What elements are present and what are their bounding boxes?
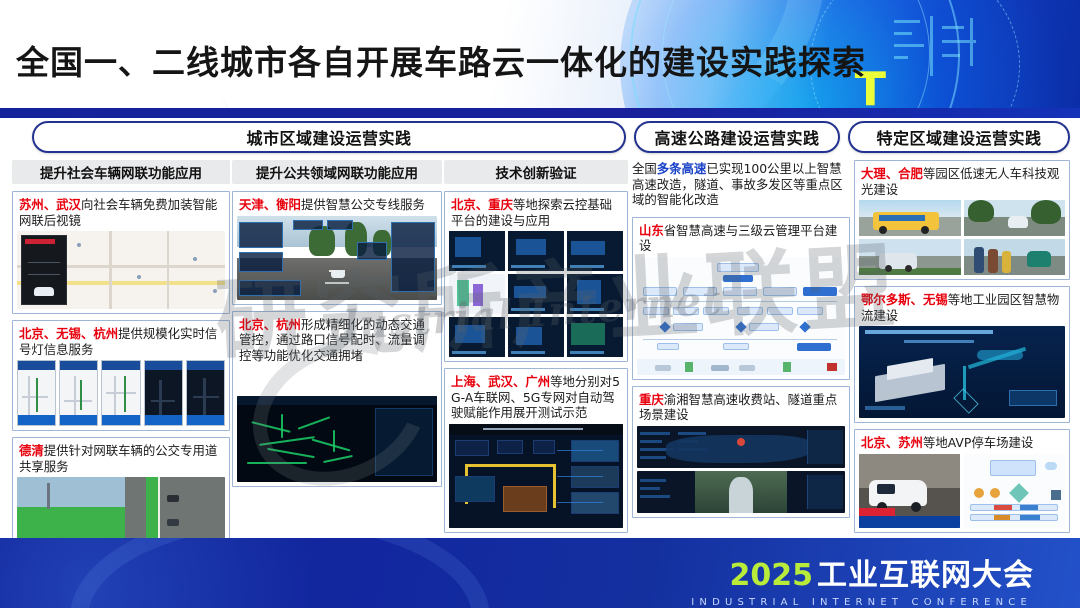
- page-title: 全国一、二线城市各自开展车路云一体化的建设实践探索: [16, 36, 866, 84]
- card-chongqing-highway[interactable]: 重庆渝湘智慧高速收费站、隧道重点场景建设: [632, 386, 850, 518]
- phone-screenshot: [101, 360, 140, 426]
- screenshot-logistics-render: [859, 326, 1065, 418]
- phone-screenshot: [144, 360, 183, 426]
- phone-screenshot: [17, 360, 56, 426]
- header-divider-rule: [0, 108, 1080, 118]
- footer-arc-decoration: [70, 538, 490, 608]
- card-caption-4-2: 山东省智慧高速与三级云管理平台建设: [637, 222, 845, 257]
- card-caption-4-3: 重庆渝湘智慧高速收费站、隧道重点场景建设: [637, 391, 845, 426]
- card-beijing-wuxi-hangzhou[interactable]: 北京、无锡、杭州提供规模化实时信号灯信息服务: [12, 320, 230, 431]
- phone-screenshot: [186, 360, 225, 426]
- screenshot-grid-tour-vehicles: [859, 200, 1065, 275]
- photo-visitors: [964, 239, 1066, 275]
- card-tianjin-hengyang[interactable]: 天津、衡阳提供智慧公交专线服务: [232, 191, 442, 305]
- photo-sweeper-bus: [859, 200, 961, 236]
- card-shandong[interactable]: 山东省智慧高速与三级云管理平台建设: [632, 217, 850, 380]
- conference-name-cn: 工业互联网大会: [817, 550, 1034, 594]
- screenshot-traffic-network: [237, 396, 437, 482]
- conference-year: 2025: [730, 558, 814, 593]
- mini-screenshot: [567, 317, 623, 357]
- mini-screenshot: [567, 231, 623, 271]
- card-caption-3-2: 上海、武汉、广州等地分别对5G-A车联网、5G专网对自动驾驶赋能作用展开测试示范: [449, 373, 623, 424]
- slide-footer: 2025 工业互联网大会 INDUSTRIAL INTERNET CONFERE…: [0, 538, 1080, 608]
- screenshot-smart-bus-road: [237, 216, 437, 300]
- slide-root: T 全国一、二线城市各自开展车路云一体化的建设实践探索 城市区域建设运营实践 高…: [0, 0, 1080, 608]
- section-pill-highway[interactable]: 高速公路建设运营实践: [634, 121, 840, 153]
- screenshot-phone-row: [17, 360, 225, 426]
- screenshot-tunnel-scene: [637, 471, 845, 513]
- card-shanghai-wuhan-guangzhou[interactable]: 上海、武汉、广州等地分别对5G-A车联网、5G专网对自动驾驶赋能作用展开测试示范: [444, 368, 628, 533]
- section-pill-city[interactable]: 城市区域建设运营实践: [32, 121, 626, 153]
- slide-header: T 全国一、二线城市各自开展车路云一体化的建设实践探索: [0, 0, 1080, 110]
- card-caption-1-3: 德清提供针对网联车辆的公交专用道共享服务: [17, 442, 225, 477]
- inset-night-camera: [21, 235, 67, 305]
- card-caption-4-1: 全国多条高速已实现100公里以上智慧高速改造，隧道、事故多发区等重点区域的智能化…: [632, 160, 850, 211]
- column-social-vehicle: 提升社会车辆网联功能应用 苏州、武汉向社会车辆免费加装智能网联后视镜: [12, 160, 230, 566]
- column-special-zone: 大理、合肥等园区低速无人车科技观光建设: [854, 160, 1070, 539]
- column-tech-innovation: 技术创新验证 北京、重庆等地探索云控基础平台的建设与应用 上海、武汉、广州等地分…: [444, 160, 628, 539]
- conference-logo: 2025 工业互联网大会 INDUSTRIAL INTERNET CONFERE…: [691, 550, 1034, 608]
- conference-name-en: INDUSTRIAL INTERNET CONFERENCE: [691, 597, 1032, 608]
- card-dali-hefei[interactable]: 大理、合肥等园区低速无人车科技观光建设: [854, 160, 1070, 280]
- card-caption-5-3: 北京、苏州等地AVP停车场建设: [859, 434, 1065, 454]
- card-beijing-hangzhou[interactable]: 北京、杭州形成精细化的动态交通管控，通过路口信号配时、流量调控等功能优化交通拥堵: [232, 311, 442, 488]
- card-caption-1-1: 苏州、武汉向社会车辆免费加装智能网联后视镜: [17, 196, 225, 231]
- screenshot-rearview-map: [17, 231, 225, 309]
- card-caption-2-2: 北京、杭州形成精细化的动态交通管控，通过路口信号配时、流量调控等功能优化交通拥堵: [237, 316, 437, 367]
- phone-screenshot: [59, 360, 98, 426]
- column-header-1: 提升社会车辆网联功能应用: [12, 160, 230, 184]
- card-beijing-chongqing[interactable]: 北京、重庆等地探索云控基础平台的建设与应用: [444, 191, 628, 362]
- screenshot-toll-station: [637, 426, 845, 468]
- card-caption-5-1: 大理、合肥等园区低速无人车科技观光建设: [859, 165, 1065, 200]
- mini-screenshot: [567, 274, 623, 314]
- card-ordos-wuxi[interactable]: 鄂尔多斯、无锡等地工业园区智慧物流建设: [854, 286, 1070, 423]
- content-columns: 提升社会车辆网联功能应用 苏州、武汉向社会车辆免费加装智能网联后视镜: [0, 160, 1080, 538]
- screenshot-grid-cloud-control: [449, 231, 623, 357]
- photo-lowspeed-pod: [859, 239, 961, 275]
- photo-shuttle-road: [964, 200, 1066, 236]
- card-caption-3-1: 北京、重庆等地探索云控基础平台的建设与应用: [449, 196, 623, 231]
- screenshot-avp-pair: [859, 454, 1065, 528]
- section-pill-zone[interactable]: 特定区域建设运营实践: [848, 121, 1070, 153]
- column-header-2: 提升公共领域网联功能应用: [232, 160, 442, 184]
- column-highway: 全国多条高速已实现100公里以上智慧高速改造，隧道、事故多发区等重点区域的智能化…: [632, 160, 850, 524]
- mini-screenshot: [449, 317, 505, 357]
- mini-screenshot: [508, 317, 564, 357]
- mini-screenshot: [449, 231, 505, 271]
- card-caption-1-2: 北京、无锡、杭州提供规模化实时信号灯信息服务: [17, 325, 225, 360]
- mini-screenshot: [508, 231, 564, 271]
- mini-screenshot: [508, 274, 564, 314]
- card-beijing-suzhou-avp[interactable]: 北京、苏州等地AVP停车场建设: [854, 429, 1070, 533]
- card-caption-5-2: 鄂尔多斯、无锡等地工业园区智慧物流建设: [859, 291, 1065, 326]
- screenshot-shandong-platform-diagram: [637, 257, 845, 375]
- card-national-highway-intro: 全国多条高速已实现100公里以上智慧高速改造，隧道、事故多发区等重点区域的智能化…: [632, 160, 850, 211]
- section-pill-row: 城市区域建设运营实践 高速公路建设运营实践 特定区域建设运营实践: [0, 121, 1080, 153]
- screenshot-avp-garage: [859, 454, 960, 528]
- column-header-3: 技术创新验证: [444, 160, 628, 184]
- screenshot-diagram-light: [237, 366, 437, 396]
- card-caption-2-1: 天津、衡阳提供智慧公交专线服务: [237, 196, 437, 216]
- header-circuit-icon: [890, 10, 1000, 96]
- card-suzhou-wuhan[interactable]: 苏州、武汉向社会车辆免费加装智能网联后视镜: [12, 191, 230, 314]
- column-public-domain: 提升公共领域网联功能应用 天津、衡阳提供智慧公交专线服务: [232, 160, 442, 493]
- screenshot-5ga-demo: [449, 424, 623, 528]
- screenshot-avp-diagram: [964, 454, 1065, 528]
- mini-screenshot: [449, 274, 505, 314]
